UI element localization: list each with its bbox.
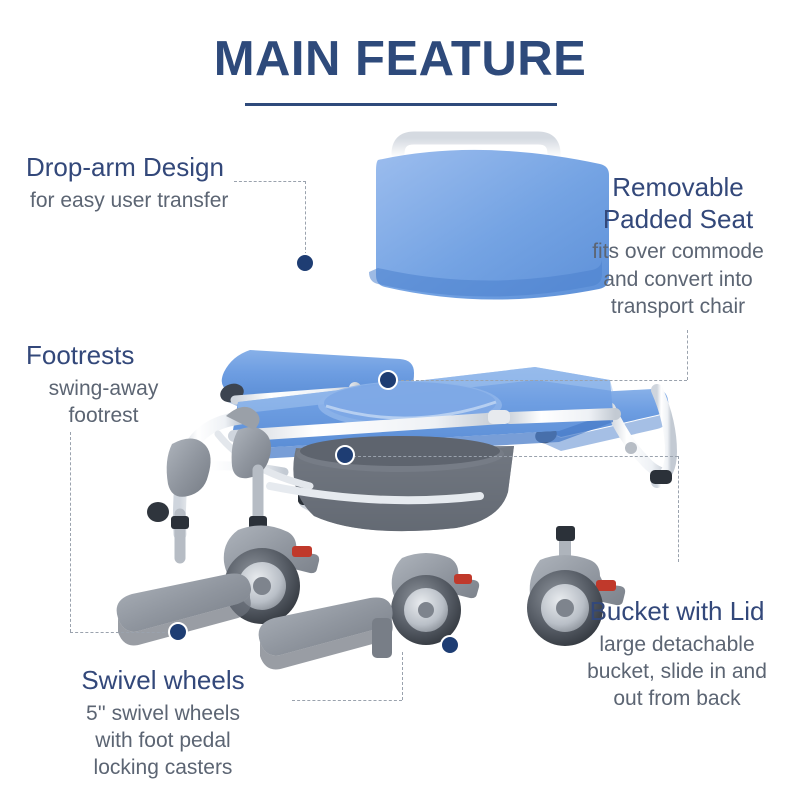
callout-drop-arm-heading: Drop-arm Design [26,152,228,184]
leader-line-footrests-v [70,432,71,632]
callout-bucket-sub-line3: out from back [572,685,782,712]
callout-seat-heading-line2: Padded Seat [578,204,778,236]
callout-bucket-heading: Bucket with Lid [572,596,782,628]
marker-footrests[interactable] [168,622,188,642]
callout-seat-sub-line1: fits over commode [578,238,778,265]
callout-footrests-sub-line1: swing-away [26,375,181,402]
callout-swivel-sub-line2: with foot pedal [48,727,278,754]
callout-drop-arm-sub: for easy user transfer [30,187,228,214]
callout-seat-sub-line2: and convert into [578,266,778,293]
marker-drop-arm[interactable] [295,253,315,273]
marker-bucket-with-lid[interactable] [335,445,355,465]
callout-swivel-heading: Swivel wheels [48,665,278,697]
marker-swivel-wheels[interactable] [440,635,460,655]
callout-footrests-heading: Footrests [26,340,181,372]
callout-swivel-sub-line3: locking casters [48,754,278,781]
callout-swivel-wheels: Swivel wheels 5'' swivel wheels with foo… [48,665,278,782]
callout-footrests: Footrests swing-away footrest [26,340,181,429]
callout-seat-heading-line1: Removable [578,172,778,204]
callout-bucket-sub-line1: large detachable [572,631,782,658]
callout-removable-padded-seat: Removable Padded Seat fits over commode … [578,172,778,320]
page-title: MAIN FEATURE [0,34,800,85]
callout-seat-sub-line3: transport chair [578,293,778,320]
callout-bucket-sub-line2: bucket, slide in and [572,658,782,685]
title-underline [245,103,557,106]
marker-removable-padded-seat[interactable] [378,370,398,390]
callout-bucket-with-lid: Bucket with Lid large detachable bucket,… [572,596,782,713]
callout-swivel-sub-line1: 5'' swivel wheels [48,700,278,727]
callout-footrests-sub-line2: footrest [26,402,181,429]
callout-drop-arm: Drop-arm Design for easy user transfer [26,152,228,214]
infographic-canvas: MAIN FEATURE [0,0,800,800]
